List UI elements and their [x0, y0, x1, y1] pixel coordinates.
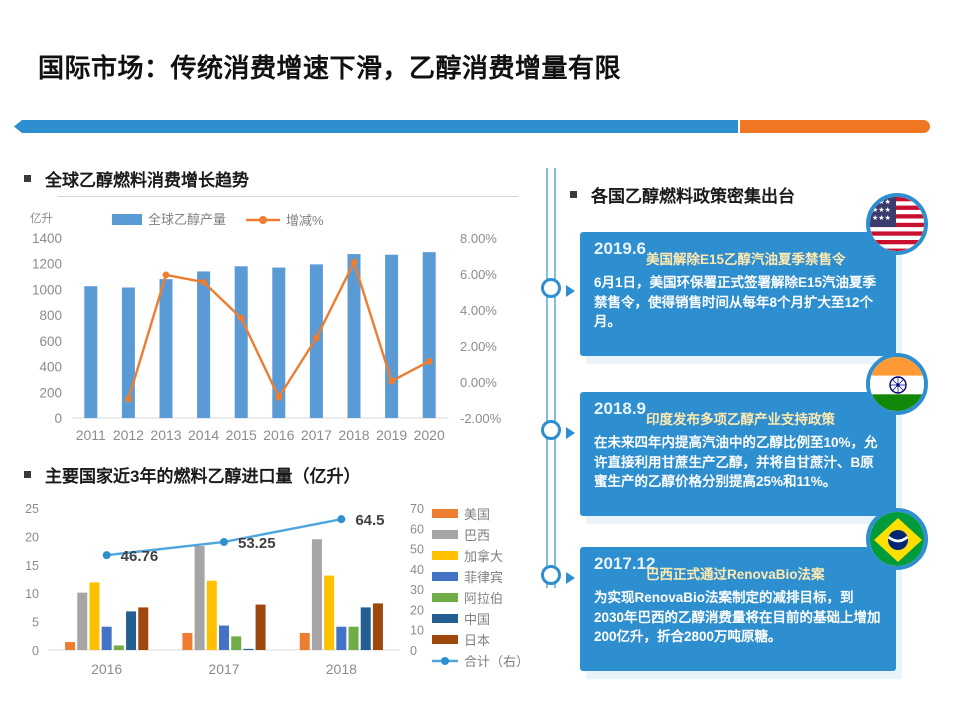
chart1-xtick: 2014 [188, 427, 219, 443]
svg-text:★★★: ★★★ [872, 214, 891, 222]
chart2-legend-label: 合计（右） [464, 654, 529, 669]
chart1-xtick: 2018 [338, 427, 369, 443]
chart1-ytick: 1000 [32, 282, 62, 297]
chart2-bar [336, 627, 346, 650]
chart2-legend-swatch [432, 530, 458, 539]
card-headline-2: 印度发布多项乙醇产业支持政策 [646, 411, 882, 429]
chart2-legend-swatch [432, 572, 458, 581]
chart1-y2tick: 0.00% [460, 375, 497, 390]
chart2-bar [312, 539, 322, 650]
chart2-ytick: 5 [32, 616, 39, 630]
chart1-bar [160, 279, 173, 418]
timeline-node-1[interactable] [541, 278, 561, 298]
chart2-y2tick: 10 [410, 624, 424, 638]
chart2-ytick: 0 [32, 644, 39, 658]
chart1-line-marker [426, 358, 433, 365]
chart2-legend-label: 中国 [464, 612, 490, 627]
chart1-xtick: 2015 [226, 427, 257, 443]
card-headline-1: 美国解除E15乙醇汽油夏季禁售令 [646, 251, 882, 269]
chart2-bar [300, 633, 310, 650]
chart2-bar [207, 581, 217, 650]
chart2-xtick: 2016 [91, 661, 122, 677]
chart2-y2tick: 70 [410, 502, 424, 516]
chart1-line-marker [313, 335, 320, 342]
chart2-legend-label: 阿拉伯 [464, 591, 503, 606]
chart1-line-marker [351, 259, 358, 266]
page-title: 国际市场：传统消费增速下滑，乙醇消费增量有限 [38, 48, 621, 85]
svg-text:★★★: ★★★ [872, 206, 891, 214]
chart1-y2tick: 6.00% [460, 267, 497, 282]
chart2-legend-label: 美国 [464, 507, 490, 522]
legend-label-production: 全球乙醇产量 [148, 212, 226, 227]
section-header-imports: 主要国家近3年的燃料乙醇进口量（亿升） [24, 462, 360, 487]
chart1-ytick: 600 [39, 334, 62, 349]
chart1-line-marker [125, 396, 132, 403]
chart-fuel-ethanol-imports: 051015202501020304050607020162017201846.… [0, 490, 540, 705]
slide-root: 国际市场：传统消费增速下滑，乙醇消费增量有限 全球乙醇燃料消费增长趋势 亿升 全… [0, 0, 960, 720]
card-headline-3: 巴西正式通过RenovaBio法案 [646, 566, 882, 584]
chart2-line-marker [337, 515, 345, 523]
section-header-policies: 各国乙醇燃料政策密集出台 [570, 182, 795, 207]
chart1-xtick: 2017 [301, 427, 332, 443]
chart1-xtick: 2019 [376, 427, 407, 443]
chart1-y2tick: -2.00% [460, 411, 502, 426]
legend-label-growth: 增减% [286, 213, 324, 228]
chart2-bar [195, 546, 205, 650]
chart2-bar [243, 649, 253, 650]
chart1-line-marker [238, 315, 245, 322]
chart2-line-marker [220, 538, 228, 546]
chart2-y2tick: 60 [410, 522, 424, 536]
bullet-square-icon [24, 175, 31, 182]
chart1-xtick: 2011 [76, 427, 106, 443]
chart2-bar [324, 576, 334, 650]
section-header-trend: 全球乙醇燃料消费增长趋势 [24, 166, 249, 191]
chart2-y2tick: 40 [410, 563, 424, 577]
legend-marker-growth [259, 216, 267, 224]
chart2-legend-label: 巴西 [464, 528, 490, 543]
chart1-bar [84, 286, 97, 418]
chart1-line-marker [163, 272, 170, 279]
svg-text:★★★: ★★★ [872, 198, 891, 206]
timeline-arrow-1 [566, 285, 575, 297]
chart2-legend-swatch [432, 551, 458, 560]
chart2-bar [89, 582, 99, 650]
us-flag-icon: ★★★★★★★★★ [866, 193, 928, 255]
timeline-node-2[interactable] [541, 420, 561, 440]
card-body-2: 在未来四年内提高汽油中的乙醇比例至10%，允许直接利用甘蔗生产乙醇，并将自甘蔗汁… [594, 433, 882, 492]
chart-global-ethanol-production: 亿升 全球乙醇产量增减%0200400600800100012001400-2.… [0, 200, 540, 450]
accent-bar-blue [14, 120, 738, 133]
chart1-ytick: 1200 [32, 257, 62, 272]
chart2-data-label: 46.76 [121, 548, 159, 565]
bullet-square-icon [24, 471, 31, 478]
chart1-y2tick: 2.00% [460, 339, 497, 354]
policy-card-3[interactable]: 2017.12 巴西正式通过RenovaBio法案 为实现RenovaBio法案… [580, 547, 896, 671]
timeline-node-3[interactable] [541, 565, 561, 585]
chart2-legend-label: 加拿大 [464, 549, 503, 564]
chart2-bar [138, 607, 148, 650]
chart2-bar [182, 633, 192, 650]
chart1-line-marker [200, 279, 207, 286]
chart2-bar [256, 605, 266, 650]
timeline-rail [546, 168, 556, 588]
section-title-trend: 全球乙醇燃料消费增长趋势 [45, 166, 249, 191]
card-body-3: 为实现RenovaBio法案制定的减排目标，到2030年巴西的乙醇消费量将在目前… [594, 588, 882, 647]
chart2-bar [126, 611, 136, 650]
chart1-bar [197, 271, 210, 418]
chart1-xtick: 2013 [150, 427, 181, 443]
chart2-bar [349, 627, 359, 650]
chart2-ytick: 20 [25, 530, 39, 544]
chart1-line-marker [388, 378, 395, 385]
chart2-bar [361, 607, 371, 650]
chart1-y2tick: 4.00% [460, 303, 497, 318]
chart1-bar [235, 266, 248, 418]
section-title-imports: 主要国家近3年的燃料乙醇进口量（亿升） [45, 462, 360, 487]
chart1-xtick: 2020 [414, 427, 445, 443]
chart2-legend-swatch [432, 593, 458, 602]
chart2-y2tick: 0 [410, 644, 417, 658]
chart2-legend-marker [441, 657, 449, 665]
card-body-1: 6月1日，美国环保署正式签署解除E15汽油夏季禁售令，使得销售时间从每年8个月扩… [594, 273, 882, 332]
chart2-legend-swatch [432, 635, 458, 644]
india-flag-icon [866, 353, 928, 415]
policy-card-2[interactable]: 2018.9 印度发布多项乙醇产业支持政策 在未来四年内提高汽油中的乙醇比例至1… [580, 392, 896, 516]
chart2-bar [77, 593, 87, 650]
chart2-legend-label: 菲律宾 [464, 570, 503, 585]
chart1-ytick: 200 [39, 385, 62, 400]
chart1-ytick: 800 [39, 308, 62, 323]
chart1-ytick: 0 [54, 411, 62, 426]
chart2-xtick: 2017 [208, 661, 239, 677]
chart2-bar [114, 645, 124, 650]
bullet-square-icon [570, 191, 577, 198]
chart1-canvas: 全球乙醇产量增减%0200400600800100012001400-2.00%… [0, 200, 540, 450]
chart2-bar [219, 626, 229, 650]
chart1-line-marker [275, 394, 282, 401]
chart2-ytick: 15 [25, 559, 39, 573]
timeline-arrow-2 [566, 427, 575, 439]
chart2-data-label: 64.5 [355, 512, 384, 529]
chart2-data-label: 53.25 [238, 535, 276, 552]
chart2-canvas: 051015202501020304050607020162017201846.… [0, 490, 540, 705]
chart2-bar [231, 636, 241, 650]
chart2-legend-swatch [432, 614, 458, 623]
section-rule-trend [58, 196, 518, 197]
timeline-arrow-3 [566, 572, 575, 584]
chart2-legend-label: 日本 [464, 633, 490, 648]
chart1-y2tick: 8.00% [460, 231, 497, 246]
chart1-bar [423, 252, 436, 418]
legend-swatch-production [112, 214, 142, 225]
chart2-y2tick: 50 [410, 543, 424, 557]
chart2-xtick: 2018 [326, 661, 357, 677]
chart2-y2tick: 20 [410, 603, 424, 617]
section-title-policies: 各国乙醇燃料政策密集出台 [591, 182, 795, 207]
accent-bar-orange [740, 120, 930, 133]
chart1-xtick: 2016 [263, 427, 294, 443]
policy-card-1[interactable]: 2019.6 美国解除E15乙醇汽油夏季禁售令 6月1日，美国环保署正式签署解除… [580, 232, 896, 356]
chart1-xtick: 2012 [113, 427, 144, 443]
chart1-bar [385, 255, 398, 418]
chart2-legend-swatch [432, 509, 458, 518]
chart2-y2tick: 30 [410, 583, 424, 597]
chart2-bar [102, 627, 112, 650]
chart1-ytick: 400 [39, 360, 62, 375]
chart2-bar [65, 642, 75, 650]
chart2-bar [373, 603, 383, 650]
brazil-flag-icon [866, 508, 928, 570]
chart1-ytick: 1400 [32, 231, 62, 246]
chart2-ytick: 10 [25, 587, 39, 601]
chart1-legend: 全球乙醇产量增减% [112, 212, 324, 228]
chart2-line-marker [103, 551, 111, 559]
chart2-ytick: 25 [25, 502, 39, 516]
